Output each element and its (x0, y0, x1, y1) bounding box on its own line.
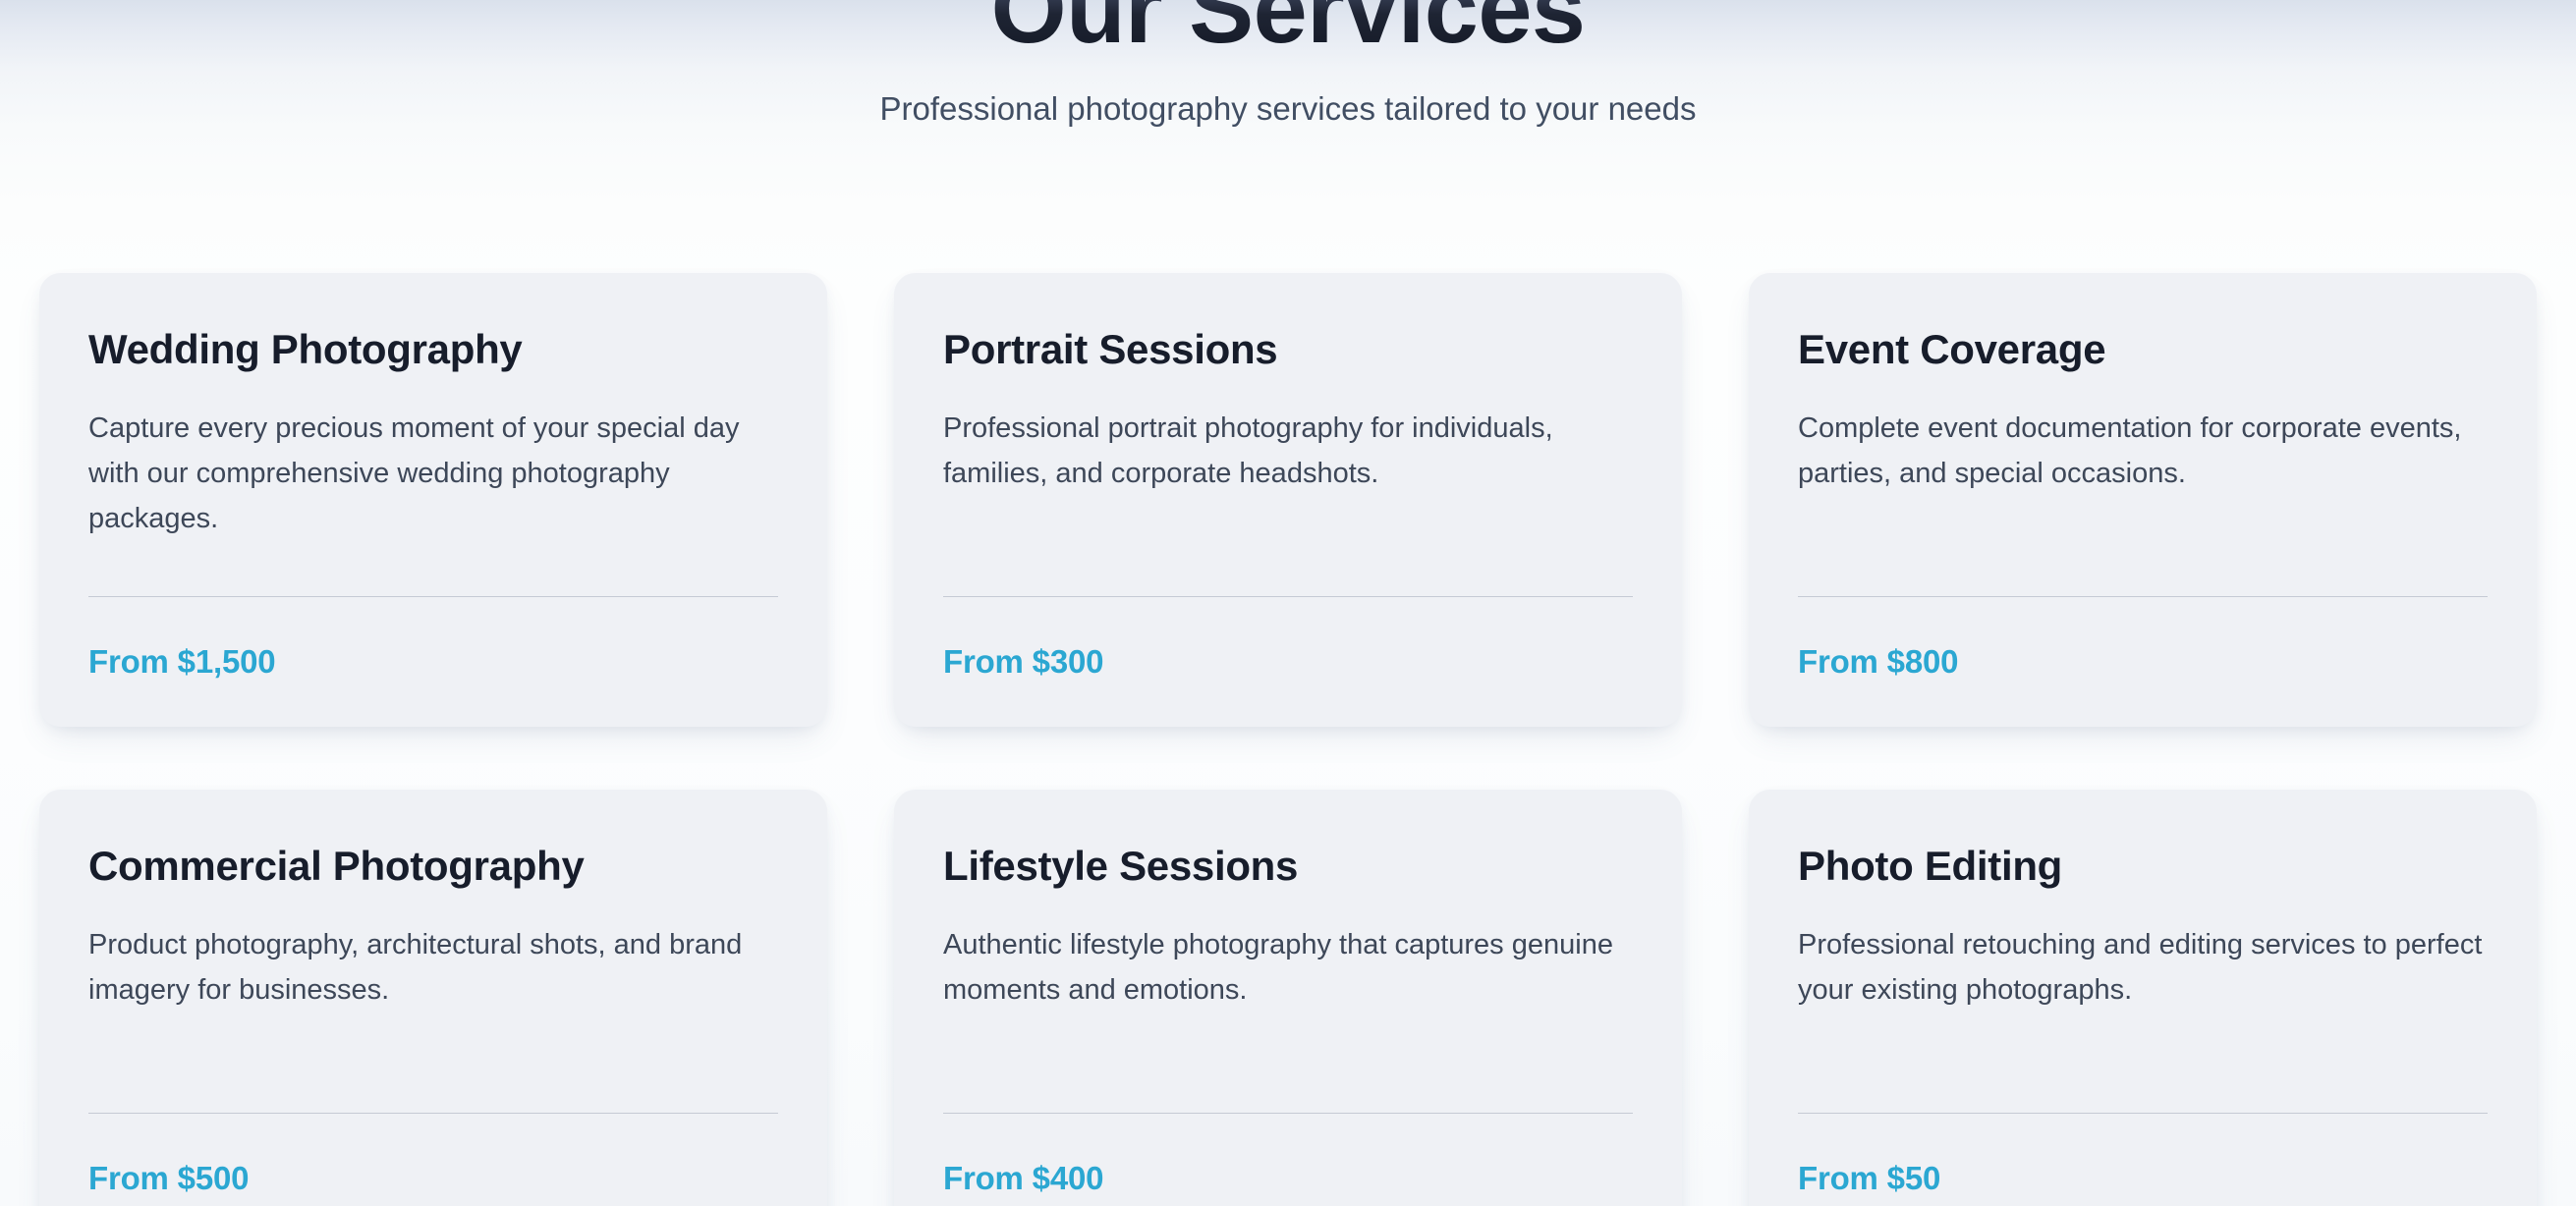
card-spacer (88, 1014, 778, 1113)
service-card-title: Lifestyle Sessions (943, 843, 1633, 890)
service-card-price: From $800 (1798, 642, 2488, 682)
service-card[interactable]: Wedding Photography Capture every precio… (39, 273, 827, 727)
card-spacer (88, 542, 778, 597)
card-spacer (943, 497, 1633, 596)
card-spacer (1798, 1014, 2488, 1113)
service-card-description: Complete event documentation for corpora… (1798, 407, 2488, 497)
service-card-description: Product photography, architectural shots… (88, 923, 778, 1014)
card-divider (88, 596, 778, 597)
services-page: Our Services Professional photography se… (0, 0, 2576, 1206)
card-divider (1798, 1113, 2488, 1114)
service-card-description: Professional retouching and editing serv… (1798, 923, 2488, 1014)
service-card-description: Professional portrait photography for in… (943, 407, 1633, 497)
page-subtitle: Professional photography services tailor… (0, 87, 2576, 132)
service-card-description: Capture every precious moment of your sp… (88, 407, 778, 541)
page-title: Our Services (0, 0, 2576, 60)
card-spacer (943, 1014, 1633, 1113)
service-card-description: Authentic lifestyle photography that cap… (943, 923, 1633, 1014)
card-divider (943, 1113, 1633, 1114)
card-divider (1798, 596, 2488, 597)
service-card-price: From $1,500 (88, 642, 778, 682)
services-header: Our Services Professional photography se… (0, 0, 2576, 132)
service-card-title: Photo Editing (1798, 843, 2488, 890)
service-card[interactable]: Photo Editing Professional retouching an… (1749, 790, 2537, 1206)
service-card-price: From $500 (88, 1159, 778, 1198)
service-card-title: Wedding Photography (88, 326, 778, 373)
service-card-price: From $50 (1798, 1159, 2488, 1198)
service-card[interactable]: Commercial Photography Product photograp… (39, 790, 827, 1206)
card-divider (88, 1113, 778, 1114)
card-divider (943, 596, 1633, 597)
service-card-title: Commercial Photography (88, 843, 778, 890)
service-card[interactable]: Lifestyle Sessions Authentic lifestyle p… (894, 790, 1682, 1206)
service-card-title: Portrait Sessions (943, 326, 1633, 373)
services-grid: Wedding Photography Capture every precio… (39, 273, 2537, 1206)
service-card-title: Event Coverage (1798, 326, 2488, 373)
service-card[interactable]: Event Coverage Complete event documentat… (1749, 273, 2537, 727)
service-card-price: From $300 (943, 642, 1633, 682)
service-card[interactable]: Portrait Sessions Professional portrait … (894, 273, 1682, 727)
card-spacer (1798, 497, 2488, 596)
service-card-price: From $400 (943, 1159, 1633, 1198)
